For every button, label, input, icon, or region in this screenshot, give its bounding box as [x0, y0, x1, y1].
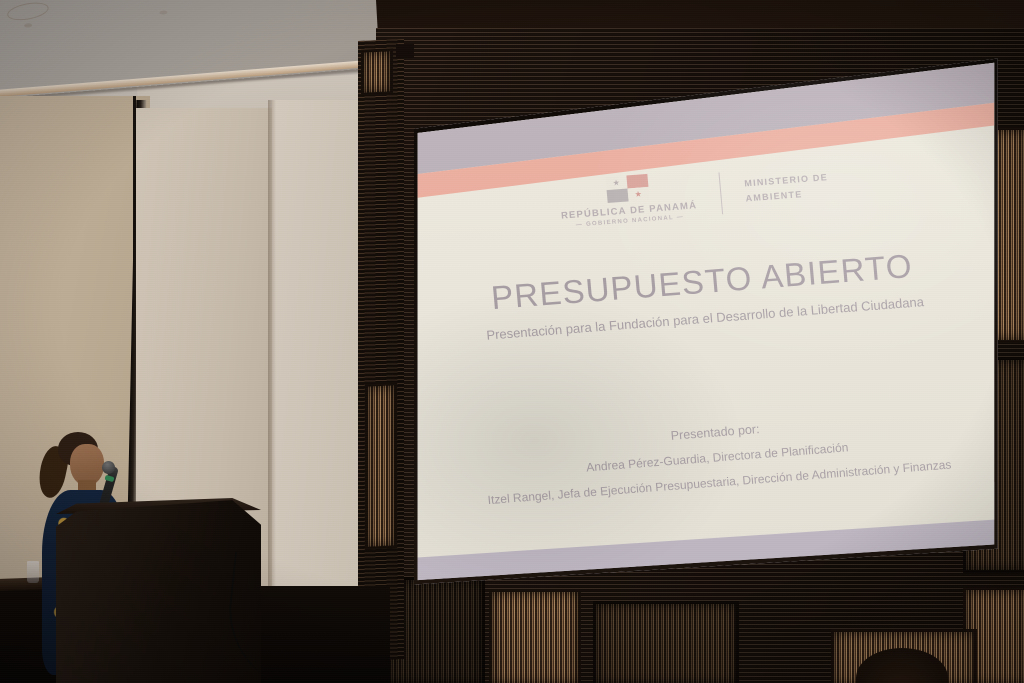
ceiling-mark [159, 10, 167, 15]
wood-slat-panel [966, 590, 1024, 683]
wood-slat-panel [492, 592, 578, 683]
logo-divider [718, 172, 723, 214]
slide-content: ★ ★ REPÚBLICA DE PANAMÁ — GOBIERNO NACIO… [406, 101, 1008, 573]
panama-government-logo: ★ ★ REPÚBLICA DE PANAMÁ — GOBIERNO NACIO… [558, 170, 698, 229]
recessed-light-icon [6, 0, 50, 23]
wood-slat-panel [364, 51, 390, 92]
projection-screen[interactable]: ★ ★ REPÚBLICA DE PANAMÁ — GOBIERNO NACIO… [402, 52, 1002, 592]
logo-lockup: ★ ★ REPÚBLICA DE PANAMÁ — GOBIERNO NACIO… [410, 149, 979, 241]
wood-slat-panel [368, 385, 394, 546]
ministry-label: MINISTERIO DE AMBIENTE [744, 170, 830, 206]
wood-column [358, 39, 404, 661]
presenters-block: Presentado por: Andrea Pérez-Guardia, Di… [432, 404, 1002, 511]
photo-scene: ★ ★ REPÚBLICA DE PANAMÁ — GOBIERNO NACIO… [0, 0, 1024, 683]
screen-mount [396, 44, 414, 58]
panama-flag-icon: ★ ★ [605, 174, 649, 203]
wood-slat-panel [596, 604, 736, 683]
ceiling-mark [24, 23, 32, 28]
